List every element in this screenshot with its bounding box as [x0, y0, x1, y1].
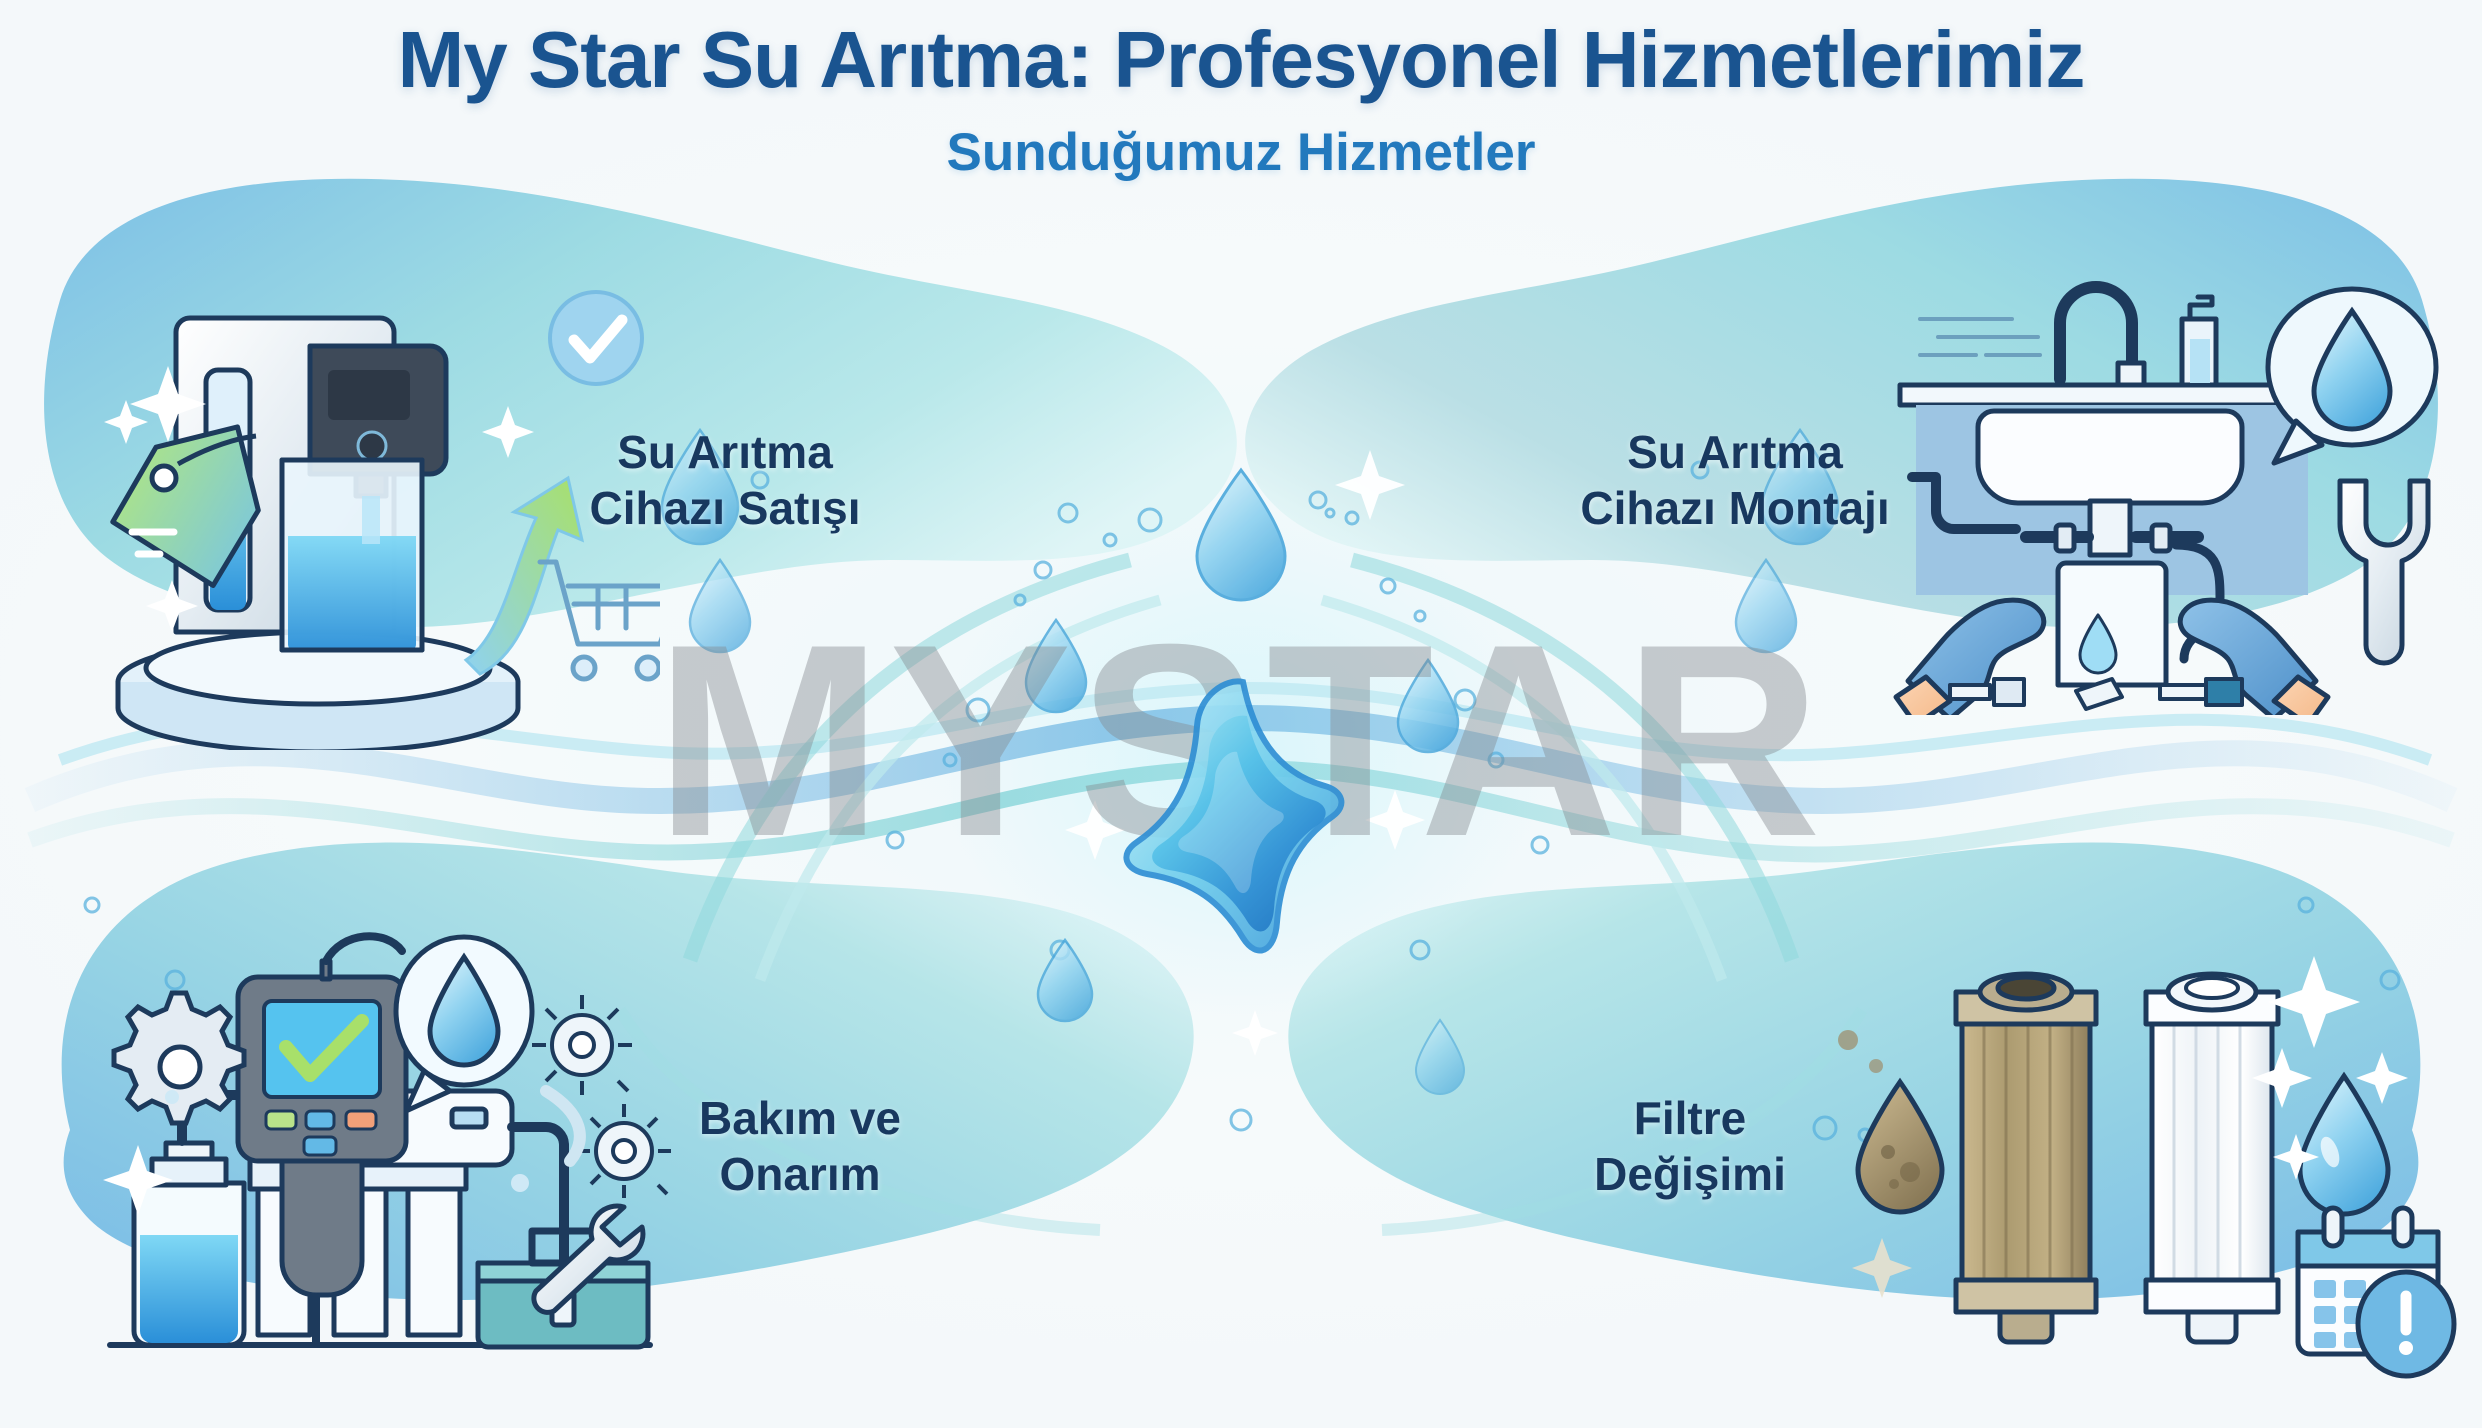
water-stream [362, 496, 380, 544]
screwdriver-icon [2206, 679, 2242, 705]
service-label-satis: Su Arıtma Cihazı Satışı [505, 424, 945, 536]
service-label-filtre: Filtre Değişimi [1470, 1090, 1910, 1202]
water-drop-speech-bubble-icon [2268, 289, 2436, 463]
soap-dispenser-icon [2182, 297, 2216, 385]
sink-basin [1978, 411, 2242, 503]
gear-icon [114, 993, 244, 1123]
clean-drop-icon [2300, 1076, 2388, 1214]
countertop [1900, 385, 2320, 405]
drain-pipe [2090, 501, 2130, 555]
page-subtitle: Sunduğumuz Hizmetler [0, 122, 2482, 183]
small-tools [1950, 679, 2242, 709]
dirt-speck [1869, 1059, 1883, 1073]
service-label-bakim: Bakım ve Onarım [580, 1090, 1020, 1202]
clean-filter-cartridge [2146, 974, 2278, 1342]
decor-lines [1920, 319, 2040, 355]
dirty-filter-cartridge [1956, 974, 2096, 1342]
water-star-logo [1085, 660, 1395, 1000]
wrench-icon [2340, 481, 2428, 663]
sparkle-icon [1852, 1238, 1912, 1298]
alert-badge-icon [2358, 1272, 2454, 1376]
shopping-cart-icon [540, 562, 660, 679]
service-label-montaj: Su Arıtma Cihazı Montajı [1500, 424, 1970, 536]
infographic-canvas: MYSTAR My Star Su Arıtma: Profesyonel Hi… [0, 0, 2482, 1428]
water-drop-speech-bubble-icon [396, 937, 532, 1111]
check-badge-icon [550, 292, 642, 384]
dirt-speck [1838, 1030, 1858, 1050]
gear-icon [532, 995, 632, 1095]
page-title: My Star Su Arıtma: Profesyonel Hizmetler… [0, 14, 2482, 106]
illustration-installation [1890, 245, 2480, 715]
